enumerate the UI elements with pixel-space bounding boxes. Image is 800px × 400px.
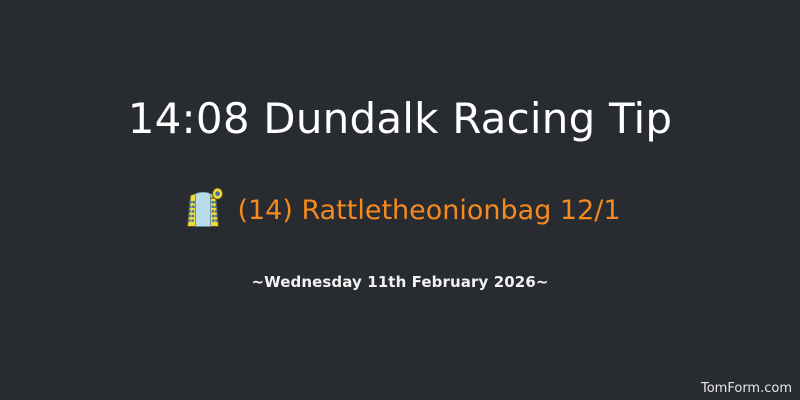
race-date: ~Wednesday 11th February 2026~	[251, 273, 548, 291]
page-title: 14:08 Dundalk Racing Tip	[128, 98, 673, 140]
footer: TomForm.com	[701, 377, 792, 396]
tip-selection-text: (14) Rattletheonionbag 12/1	[237, 197, 620, 224]
tip-row: (14) Rattletheonionbag 12/1	[0, 186, 800, 234]
silks-body	[196, 192, 211, 226]
page-title-row: 14:08 Dundalk Racing Tip	[0, 98, 800, 140]
racing-tip-card: 14:08 Dundalk Racing Tip	[0, 0, 800, 400]
brand-watermark: TomForm.com	[701, 381, 792, 396]
jockey-silks-icon	[179, 186, 227, 234]
date-row: ~Wednesday 11th February 2026~	[0, 272, 800, 291]
silks-cap-spot	[216, 191, 221, 196]
silks-wrapper	[179, 186, 227, 234]
